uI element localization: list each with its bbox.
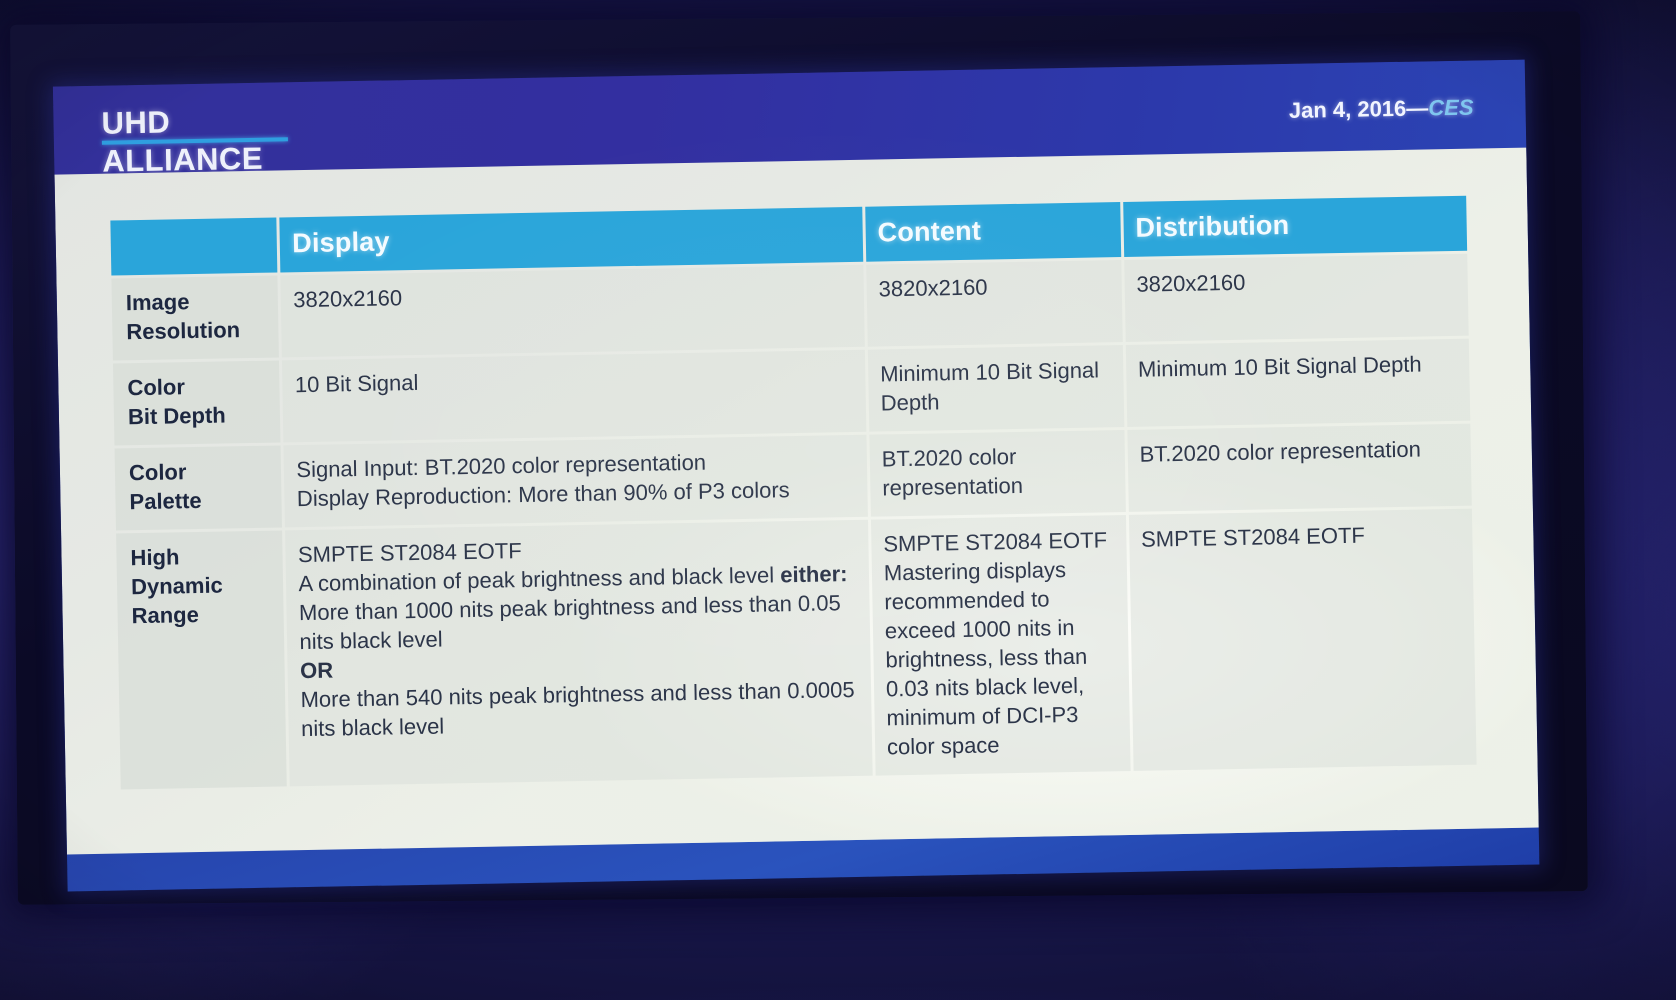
row-label-image-resolution: Image Resolution (111, 275, 279, 360)
row-label-line: Color (127, 371, 268, 403)
slide-date: Jan 4, 2016—CES (1289, 95, 1474, 124)
row-label-line: Color (129, 456, 270, 488)
row-label-line: High (130, 541, 271, 573)
cell-distribution-high-dynamic-range: SMPTE ST2084 EOTF (1129, 509, 1477, 771)
photographed-screen: UHD ALLIANCE Jan 4, 2016—CES Display (0, 0, 1676, 1000)
display-bezel: UHD ALLIANCE Jan 4, 2016—CES Display (10, 11, 1588, 905)
hdr-display-or-text: OR (300, 658, 333, 684)
row-label-color-bit-depth: Color Bit Depth (113, 361, 281, 446)
cell-display-color-palette: Signal Input: BT.2020 color representati… (284, 435, 868, 528)
cell-content-color-palette: BT.2020 color representation (869, 430, 1125, 517)
date-text: Jan 4, 2016— (1289, 95, 1429, 123)
column-header-blank (110, 218, 277, 276)
row-label-line: Bit Depth (128, 400, 269, 432)
hdr-content-mastering: Mastering displays recommended to exceed… (884, 554, 1119, 761)
cell-distribution-image-resolution: 3820x2160 (1124, 254, 1469, 342)
hdr-display-option-2: More than 540 nits peak brightness and l… (300, 675, 859, 743)
slide-body-panel: Display Content Distribution Image Resol… (55, 148, 1539, 855)
cell-content-color-bit-depth: Minimum 10 Bit Signal Depth (868, 345, 1124, 432)
row-label-line: Resolution (126, 315, 267, 347)
cell-display-high-dynamic-range: SMPTE ST2084 EOTF A combination of peak … (285, 520, 872, 787)
row-label-color-palette: Color Palette (115, 446, 283, 531)
row-label-line: Image (126, 286, 267, 318)
column-header-content: Content (865, 202, 1121, 262)
column-header-distribution: Distribution (1123, 196, 1467, 257)
row-label-line: Range (131, 599, 272, 631)
presentation-slide: UHD ALLIANCE Jan 4, 2016—CES Display (53, 60, 1540, 892)
hdr-display-either-emphasis: either: (780, 561, 848, 587)
cell-distribution-color-bit-depth: Minimum 10 Bit Signal Depth (1126, 339, 1471, 427)
hdr-display-option-1: More than 1000 nits peak brightness and … (299, 588, 858, 656)
table-row: High Dynamic Range SMPTE ST2084 EOTF A c… (116, 509, 1476, 790)
cell-content-image-resolution: 3820x2160 (866, 260, 1122, 347)
ces-label: CES (1428, 95, 1474, 121)
specification-table: Display Content Distribution Image Resol… (107, 193, 1479, 793)
hdr-content-eotf: SMPTE ST2084 EOTF (883, 525, 1114, 558)
cell-distribution-color-palette: BT.2020 color representation (1127, 424, 1472, 512)
cell-content-high-dynamic-range: SMPTE ST2084 EOTF Mastering displays rec… (871, 515, 1130, 776)
uhd-alliance-logo: UHD ALLIANCE (101, 104, 288, 176)
row-label-line: Palette (129, 485, 270, 517)
row-label-line: Dynamic (131, 570, 272, 602)
logo-line-uhd: UHD (101, 104, 288, 138)
cell-display-image-resolution: 3820x2160 (281, 265, 865, 358)
cell-display-color-bit-depth: 10 Bit Signal (282, 350, 866, 443)
row-label-high-dynamic-range: High Dynamic Range (116, 531, 287, 790)
column-header-display: Display (280, 207, 863, 273)
